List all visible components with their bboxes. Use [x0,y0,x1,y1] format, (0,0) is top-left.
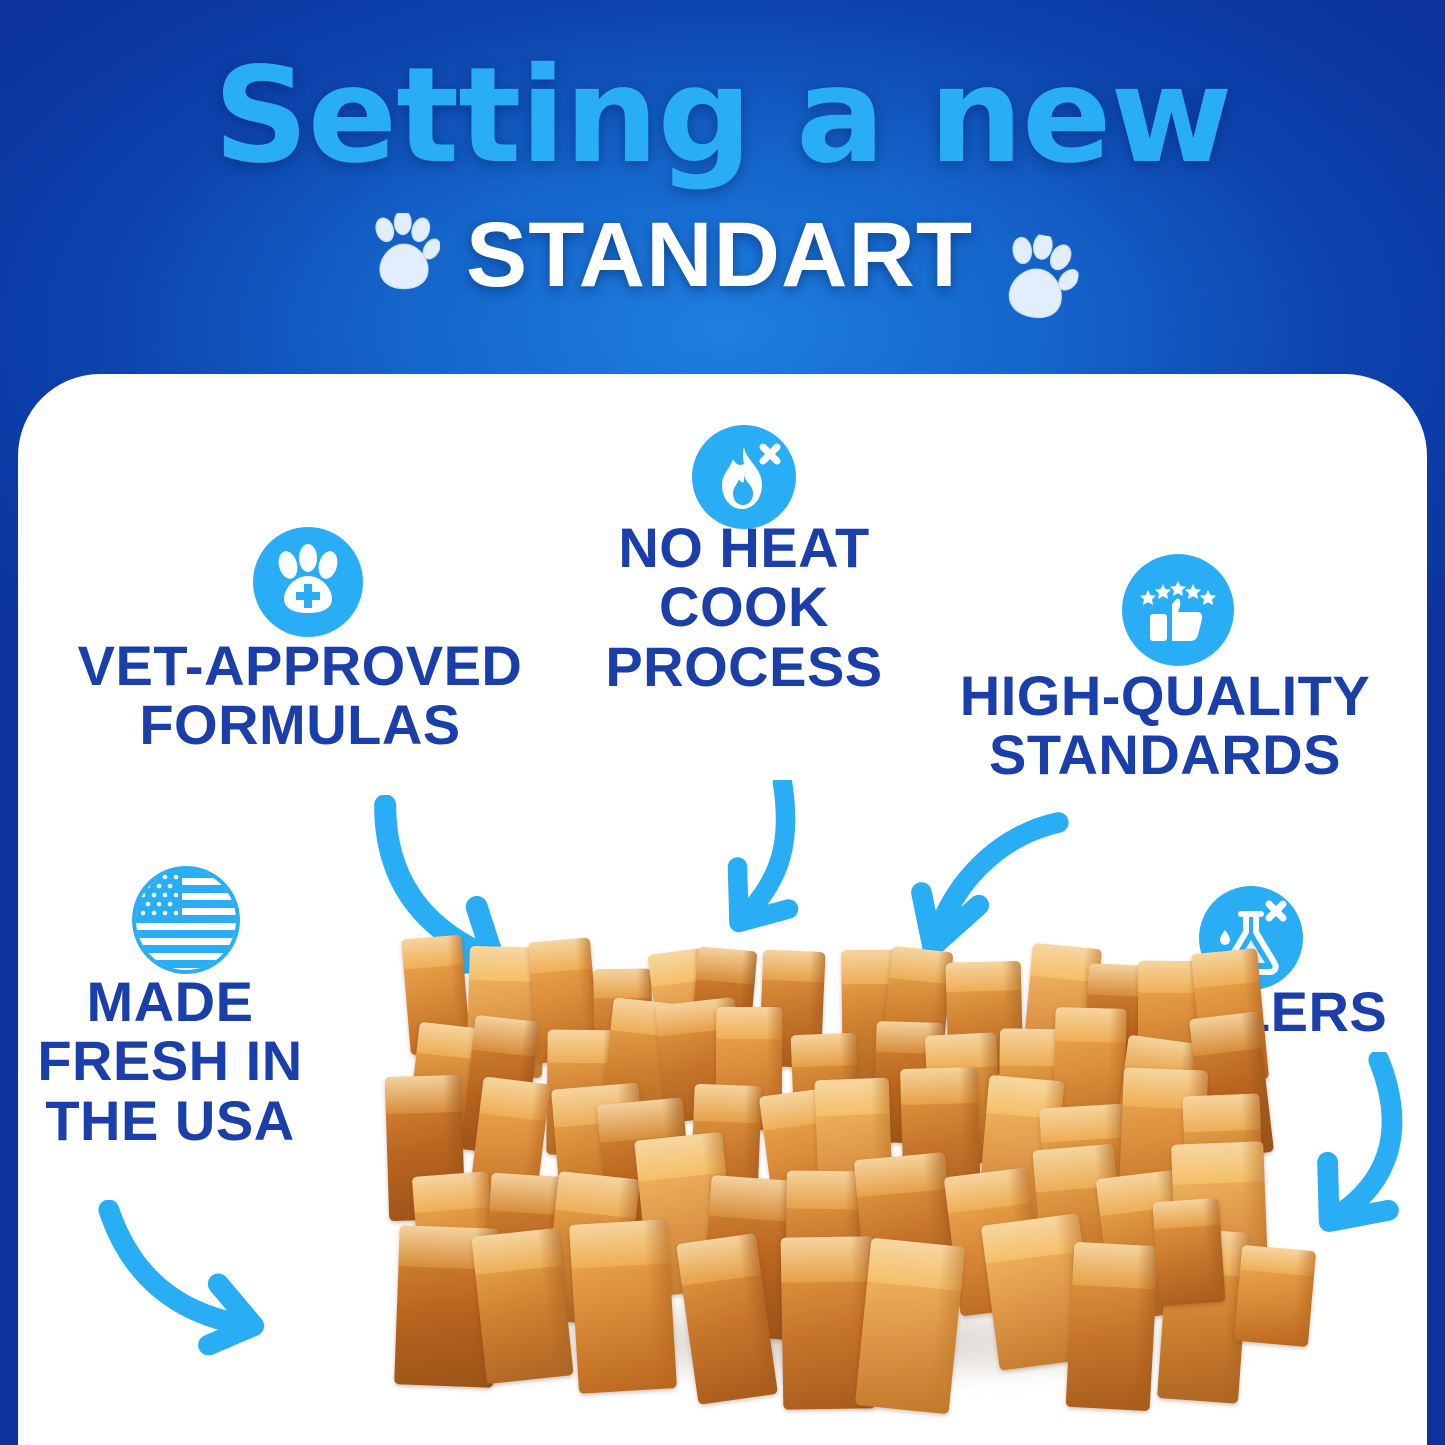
thumbs-up-five-stars-icon [1122,554,1234,666]
feature-label-zero-fillers: 0 FILLERS [1080,982,1410,1041]
usa-flag-circle-icon [132,866,240,974]
subheadline-row: STANDART [0,195,1445,315]
no-chemical-flask-icon [1199,886,1303,990]
curved-arrow-down-left-icon [696,780,836,945]
curved-arrow-down-right-icon [368,795,538,985]
curved-arrow-down-left-icon [1286,1052,1445,1247]
feature-label-no-heat: NO HEAT COOK PROCESS [576,518,912,696]
page-subheadline: STANDART [466,203,973,308]
feature-label-vet: VET-APPROVED FORMULAS [30,636,570,755]
infographic-canvas: Setting a new STANDART [0,0,1445,1445]
no-flame-icon [692,425,796,529]
header-banner: Setting a new STANDART [0,0,1445,400]
curved-arrow-down-left-icon [896,805,1071,980]
paw-print-icon [992,229,1085,333]
feature-label-high-quality: HIGH-QUALITY STANDARDS [930,666,1400,785]
feature-label-made-in-usa: MADE FRESH IN THE USA [10,972,330,1150]
paw-print-icon [368,213,440,297]
paw-medical-cross-icon [253,527,363,637]
curved-arrow-down-right-icon [96,1200,281,1355]
page-headline: Setting a new [0,0,1445,181]
